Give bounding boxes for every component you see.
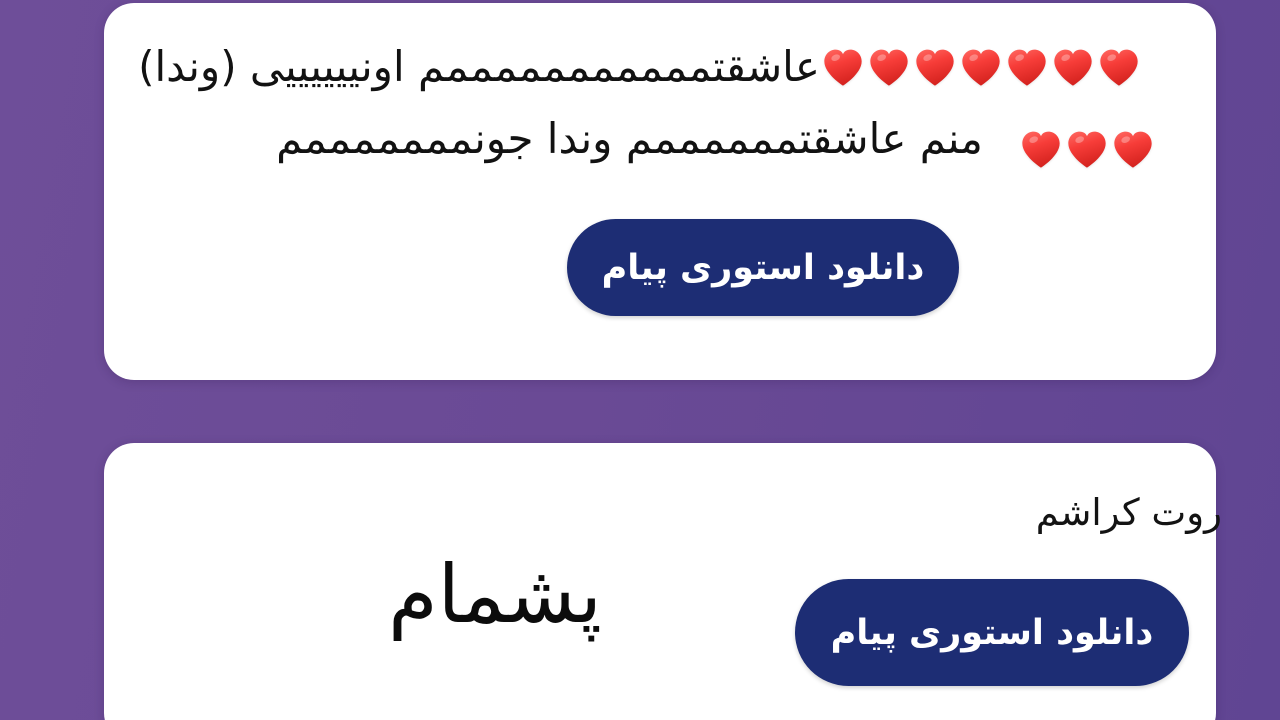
heart-emoji-group-1 bbox=[820, 47, 1142, 87]
message-line-1: عاشقتمممممممممممم اونییییییی (وندا) bbox=[146, 31, 1156, 103]
heart-icon bbox=[1019, 129, 1063, 169]
message-line-2: منم عاشقتممممممم وندا جونمممممممم bbox=[146, 109, 1156, 169]
message-text-2: منم عاشقتممممممم وندا جونمممممممم bbox=[276, 114, 983, 163]
heart-icon bbox=[867, 47, 911, 87]
download-story-button-1[interactable]: دانلود استوری پیام bbox=[567, 219, 959, 316]
heart-icon bbox=[959, 47, 1003, 87]
heart-icon bbox=[1097, 47, 1141, 87]
card-2-caption: روت کراشم bbox=[1036, 487, 1222, 539]
heart-icon bbox=[1005, 47, 1049, 87]
app-root: عاشقتمممممممممممم اونییییییی (وندا) منم … bbox=[0, 0, 1280, 720]
heart-icon bbox=[1111, 129, 1155, 169]
heart-icon bbox=[821, 47, 865, 87]
heart-emoji-group-2 bbox=[1018, 129, 1156, 169]
story-card-1: عاشقتمممممممممممم اونییییییی (وندا) منم … bbox=[104, 3, 1216, 380]
heart-icon bbox=[1051, 47, 1095, 87]
heart-icon bbox=[913, 47, 957, 87]
download-story-button-2[interactable]: دانلود استوری پیام bbox=[795, 579, 1189, 686]
heart-icon bbox=[1065, 129, 1109, 169]
message-text-1: عاشقتمممممممممممم اونییییییی (وندا) bbox=[138, 31, 820, 103]
